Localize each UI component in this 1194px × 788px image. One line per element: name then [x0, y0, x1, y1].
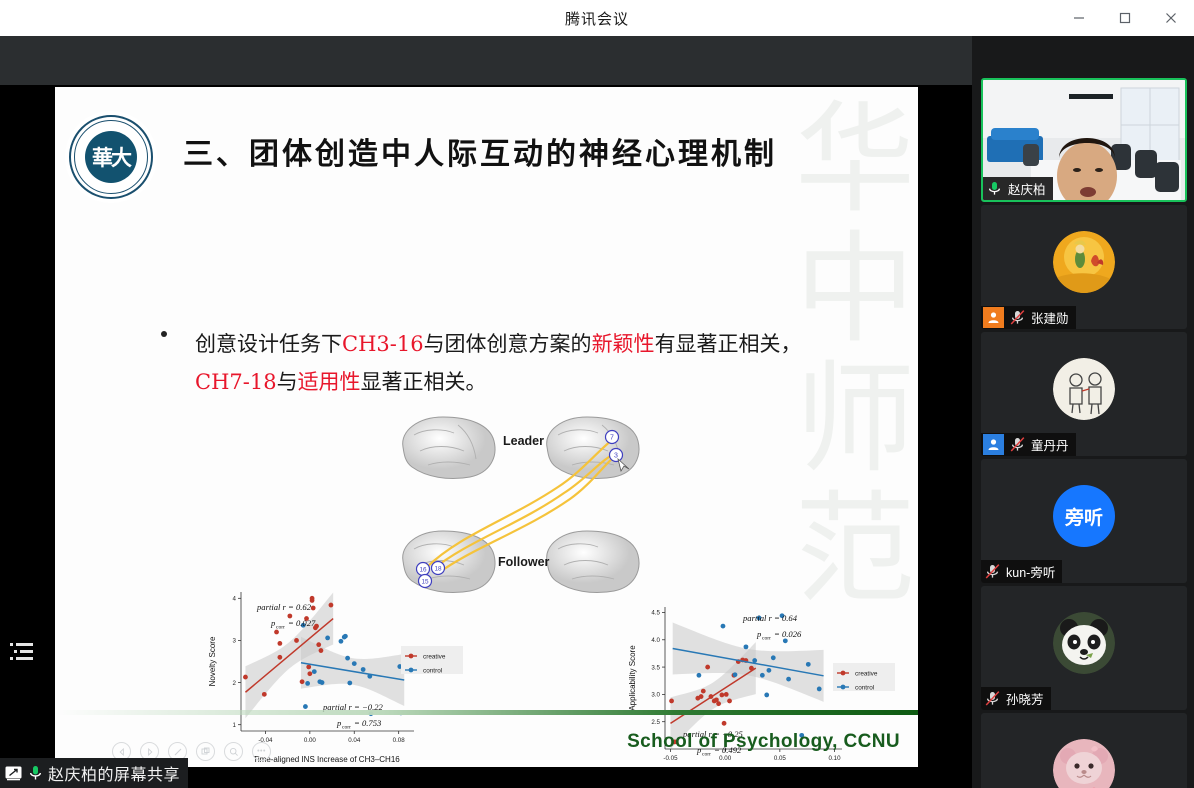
- data-point-control: [771, 655, 776, 660]
- data-point-creative: [316, 642, 321, 647]
- window-controls: [1056, 0, 1194, 36]
- y-axis-title: Applicability Score: [628, 645, 637, 711]
- legend-label-creative: creative: [423, 653, 446, 660]
- annotation-partial-r: partial r = 0.64: [742, 613, 798, 623]
- data-point-control: [343, 634, 348, 639]
- data-point-control: [345, 656, 350, 661]
- slide-header: 華大 三、团体创造中人际互动的神经心理机制: [55, 111, 918, 203]
- bullet-line1-part2: 与团体创意方案的: [424, 332, 592, 356]
- data-point-control: [361, 667, 366, 672]
- data-point-creative: [701, 689, 706, 694]
- y-tick-label: 1: [233, 722, 237, 729]
- x-tick-label: 0.10: [829, 755, 842, 762]
- follower-label: Follower: [498, 555, 549, 569]
- bullet-line1-part3: 有显著正相关，: [655, 332, 802, 356]
- participant-avatar: 旁听: [1053, 485, 1115, 547]
- channel-node-18: 18: [432, 562, 445, 575]
- channel-node-7: 7: [606, 431, 619, 444]
- bullet-line2-part2: 显著正相关。: [361, 370, 487, 394]
- svg-text:7: 7: [610, 435, 614, 442]
- window-title: 腾讯会议: [565, 8, 629, 29]
- data-point-control: [352, 661, 357, 666]
- participant-name: 孙晓芳: [1006, 689, 1044, 708]
- brain-connectivity-figure: 7 3 16 18 15: [390, 407, 680, 597]
- data-point-creative: [277, 655, 282, 660]
- microphone-muted-icon[interactable]: [1008, 308, 1027, 327]
- bullet-line1-part1: 创意设计任务下: [195, 332, 342, 356]
- cohost-badge-icon: [983, 434, 1004, 455]
- data-point-control: [786, 677, 791, 682]
- data-point-creative: [262, 692, 267, 697]
- data-point-creative: [294, 638, 299, 643]
- participant-tile[interactable]: 旁听 kun-旁听: [981, 459, 1187, 583]
- list-view-icon[interactable]: [10, 638, 36, 664]
- data-point-control: [752, 658, 757, 663]
- svg-text:corr: corr: [762, 636, 771, 642]
- legend-label-creative: creative: [855, 670, 878, 677]
- data-point-control: [367, 674, 372, 679]
- microphone-muted-icon[interactable]: [983, 689, 1002, 708]
- x-axis-title: Time-aligned INS Increase of CH3–CH16: [253, 755, 400, 764]
- data-point-creative: [705, 665, 710, 670]
- y-tick-label: 2: [233, 680, 237, 687]
- data-point-creative: [277, 641, 282, 646]
- leader-label: Leader: [503, 434, 544, 448]
- window-titlebar: 腾讯会议: [0, 0, 1194, 36]
- participant-namebar: 张建勋: [981, 306, 1076, 329]
- annotation-p-value: = 0.753: [354, 718, 381, 728]
- participant-list[interactable]: 赵庆柏 张建勋: [981, 78, 1187, 788]
- data-point-creative: [722, 721, 727, 726]
- annotation-p-value: = 0.027: [288, 618, 316, 628]
- legend-label-control: control: [423, 667, 442, 674]
- data-point-control: [305, 681, 310, 686]
- data-point-control: [325, 636, 330, 641]
- bullet-dot-icon: [161, 331, 167, 337]
- bullet-line1-red2: 新颖性: [592, 332, 655, 356]
- avatar-text: 旁听: [1065, 503, 1103, 530]
- microphone-on-icon[interactable]: [985, 179, 1004, 198]
- microphone-muted-icon[interactable]: [983, 562, 1002, 581]
- x-tick-label: -0.05: [663, 755, 678, 762]
- data-point-creative: [699, 694, 704, 699]
- data-point-creative: [749, 666, 754, 671]
- participant-name: kun-旁听: [1006, 562, 1055, 581]
- channel-node-3: 3: [610, 449, 623, 462]
- bullet-line1-red1: CH3-16: [342, 332, 424, 356]
- more-options-button[interactable]: •••: [252, 742, 271, 761]
- y-tick-label: 2.5: [651, 719, 660, 726]
- all-slides-button[interactable]: [196, 742, 215, 761]
- data-point-control: [320, 680, 325, 685]
- participant-avatar: [1053, 612, 1115, 674]
- data-point-control: [733, 672, 738, 677]
- participant-avatar: [1053, 231, 1115, 293]
- slide-bullet: 创意设计任务下CH3-16与团体创意方案的新颖性有显著正相关， CH7-18与适…: [153, 325, 883, 401]
- y-tick-label: 3.5: [651, 664, 660, 671]
- data-point-control: [347, 681, 352, 686]
- participant-tile[interactable]: 赵庆柏: [981, 78, 1187, 202]
- x-tick-label: 0.04: [348, 737, 361, 744]
- maximize-icon[interactable]: [1102, 0, 1148, 36]
- data-point-creative: [724, 692, 729, 697]
- brain-top-left: [403, 417, 495, 479]
- data-point-control: [697, 673, 702, 678]
- y-axis-title: Novelty Score: [208, 636, 217, 686]
- channel-node-16: 16: [417, 563, 430, 576]
- annotation-p-value: = 0.026: [774, 629, 802, 639]
- x-tick-label: 0.05: [774, 755, 787, 762]
- data-point-creative: [319, 648, 324, 653]
- data-point-control: [817, 687, 822, 692]
- minimize-icon[interactable]: [1056, 0, 1102, 36]
- y-tick-label: 4: [233, 596, 237, 603]
- host-badge-icon: [983, 307, 1004, 328]
- participant-name: 赵庆柏: [1008, 179, 1046, 198]
- y-tick-label: 3.0: [651, 692, 660, 699]
- data-point-creative: [719, 693, 724, 698]
- data-point-control: [764, 693, 769, 698]
- participant-namebar: 赵庆柏: [983, 177, 1053, 200]
- data-point-control: [312, 669, 317, 674]
- participant-tile[interactable]: 张建勋: [981, 205, 1187, 329]
- data-point-creative: [669, 699, 674, 704]
- data-point-creative: [716, 701, 721, 706]
- x-tick-label: 0.00: [719, 755, 732, 762]
- legend-marker-creative: [841, 671, 846, 676]
- data-point-creative: [310, 596, 315, 601]
- participant-namebar: 孙晓芳: [981, 687, 1051, 710]
- logo-text: 華大: [85, 131, 137, 183]
- svg-text:corr: corr: [342, 725, 351, 731]
- shared-screen-slide[interactable]: 华中师范 華大 三、团体创造中人际互动的神经心理机制 创意设计任务下CH3-16…: [55, 87, 918, 767]
- microphone-muted-icon[interactable]: [1008, 435, 1027, 454]
- svg-text:16: 16: [419, 567, 427, 574]
- footer-divider: [55, 710, 918, 715]
- slide-footer-text: School of Psychology, CCNU: [627, 731, 900, 753]
- data-point-creative: [306, 665, 311, 670]
- y-tick-label: 4.0: [651, 637, 660, 644]
- ccnu-logo-icon: 華大: [65, 111, 157, 203]
- y-tick-label: 3: [233, 638, 237, 645]
- svg-text:3: 3: [614, 453, 618, 460]
- bullet-line2-red2: 适用性: [298, 370, 361, 394]
- participant-name: 童丹丹: [1031, 435, 1069, 454]
- x-tick-label: 0.08: [393, 737, 406, 744]
- participant-avatar: [1053, 358, 1115, 420]
- chart-novelty-ch3-ch16: -0.040.000.040.081234Time-aligned INS In…: [205, 580, 490, 765]
- meeting-body: 华中师范 華大 三、团体创造中人际互动的神经心理机制 创意设计任务下CH3-16…: [0, 36, 1194, 788]
- slide-title: 三、团体创造中人际互动的神经心理机制: [183, 129, 777, 173]
- data-point-creative: [727, 699, 732, 704]
- data-point-control: [783, 638, 788, 643]
- tencent-meeting-window: 腾讯会议 华中师范: [0, 0, 1194, 788]
- svg-text:corr: corr: [276, 625, 285, 631]
- legend-marker-control: [841, 685, 846, 690]
- data-point-control: [767, 668, 772, 673]
- x-tick-label: 0.00: [304, 737, 317, 744]
- screen-share-icon: [4, 764, 23, 783]
- svg-text:18: 18: [434, 566, 442, 573]
- close-icon[interactable]: [1148, 0, 1194, 36]
- annotation-partial-r: partial r = 0.62: [256, 602, 312, 612]
- data-point-control: [806, 662, 811, 667]
- data-point-creative: [329, 603, 334, 608]
- bullet-line2-part1: 与: [277, 370, 298, 394]
- participant-avatar: [1053, 739, 1115, 788]
- legend-label-control: control: [855, 684, 874, 691]
- participant-namebar: kun-旁听: [981, 560, 1062, 583]
- microphone-on-icon: [26, 764, 45, 783]
- legend-marker-creative: [409, 654, 414, 659]
- data-point-creative: [300, 679, 305, 684]
- data-point-control: [303, 704, 308, 709]
- participant-name: 张建勋: [1031, 308, 1069, 327]
- data-point-creative: [311, 606, 316, 611]
- participant-tile[interactable]: 赵影: [981, 713, 1187, 788]
- legend-marker-control: [409, 668, 414, 673]
- share-toolbar-background: [0, 36, 972, 85]
- brain-bottom-right: [547, 531, 639, 593]
- participant-tile[interactable]: 童丹丹: [981, 332, 1187, 456]
- data-point-creative: [243, 675, 248, 680]
- y-tick-label: 4.5: [651, 610, 660, 617]
- screen-share-status-bar: 赵庆柏的屏幕共享: [0, 758, 188, 788]
- participant-tile[interactable]: 孙晓芳: [981, 586, 1187, 710]
- data-point-creative: [307, 671, 312, 676]
- data-point-control: [721, 624, 726, 629]
- data-point-creative: [709, 694, 714, 699]
- data-point-control: [760, 673, 765, 678]
- bullet-line2-red1: CH7-18: [195, 370, 277, 394]
- data-point-control: [744, 644, 749, 649]
- participant-namebar: 童丹丹: [981, 433, 1076, 456]
- data-point-control: [339, 639, 344, 644]
- share-status-text: 赵庆柏的屏幕共享: [48, 761, 180, 785]
- zoom-button[interactable]: [224, 742, 243, 761]
